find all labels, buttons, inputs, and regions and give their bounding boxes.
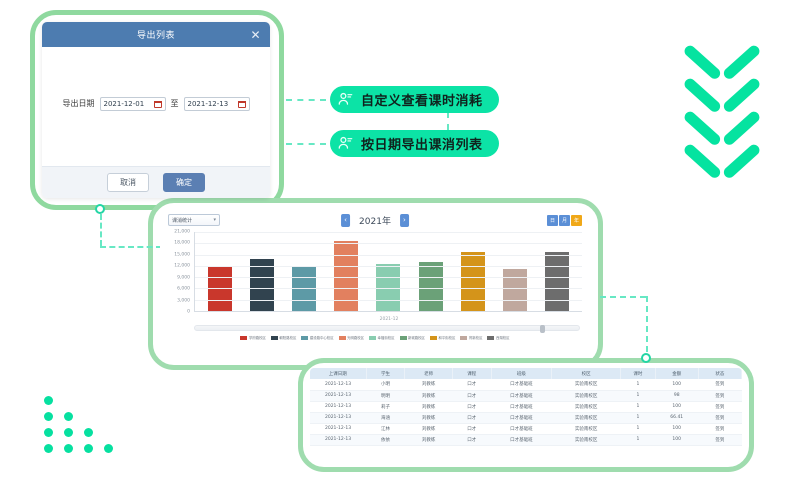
- table-cell: 刘教练: [405, 379, 452, 390]
- dialog-connector-horizontal: [100, 246, 162, 248]
- year-label: 2021年: [359, 214, 391, 227]
- confirm-button[interactable]: 确定: [163, 173, 205, 192]
- legend-label: 和平街校区: [438, 335, 455, 340]
- bar[interactable]: [545, 252, 569, 311]
- table-row[interactable]: 2021-12-13江林刘教练口才口才基础班实验南校区1100签到: [310, 423, 742, 434]
- legend-item[interactable]: 西湖校区: [487, 335, 509, 340]
- stat-type-select[interactable]: 课消统计 ▾: [168, 214, 220, 226]
- chart-table-connector-h: [600, 296, 646, 298]
- bar[interactable]: [503, 269, 527, 311]
- table-cell: 刘教练: [405, 390, 452, 401]
- table-cell: 签到: [698, 401, 741, 412]
- table-cell: 实验南校区: [552, 412, 621, 423]
- calendar-icon[interactable]: [238, 100, 246, 108]
- legend-swatch: [271, 336, 278, 340]
- legend-label: 西湖校区: [496, 335, 510, 340]
- prev-year-button[interactable]: ‹: [341, 214, 350, 227]
- table-cell: 实验南校区: [552, 423, 621, 434]
- table-cell: 100: [655, 401, 698, 412]
- table-header-row: 上课日期学生老师课程班级校区课时金额状态: [310, 368, 742, 379]
- table-cell: 口才基础班: [491, 379, 551, 390]
- bar[interactable]: [461, 252, 485, 311]
- chart-scrollbar[interactable]: [194, 325, 580, 331]
- course-consumption-table-panel: 上课日期学生老师课程班级校区课时金额状态 2021-12-13小明刘教练口才口才…: [310, 368, 742, 460]
- next-year-button[interactable]: ›: [400, 214, 409, 227]
- legend-swatch: [460, 336, 467, 340]
- table-cell: 签到: [698, 434, 741, 445]
- callout-connector-2: [286, 143, 326, 145]
- table-cell: 1: [621, 401, 656, 412]
- calendar-icon[interactable]: [154, 100, 162, 108]
- dialog-connector-vertical: [100, 214, 102, 246]
- table-cell: 实验南校区: [552, 434, 621, 445]
- grid-line: [195, 300, 582, 301]
- table-body: 2021-12-13小明刘教练口才口才基础班实验南校区1100签到2021-12…: [310, 379, 742, 445]
- table-cell: 口才基础班: [491, 412, 551, 423]
- year-navigator: ‹ 2021年 ›: [341, 214, 409, 227]
- table-cell: 实验南校区: [552, 390, 621, 401]
- table-cell: 海涵: [366, 412, 405, 423]
- legend-label: 建设路中心校区: [310, 335, 334, 340]
- table-cell: 100: [655, 434, 698, 445]
- date-range-separator: 至: [171, 98, 179, 109]
- callout-connector-1: [286, 99, 326, 101]
- table-cell: 口才: [452, 401, 491, 412]
- close-icon[interactable]: ✕: [250, 29, 261, 41]
- table-column-header[interactable]: 课时: [621, 368, 656, 379]
- legend-item[interactable]: 朝阳路校区: [271, 335, 296, 340]
- table-cell: 刘教练: [405, 412, 452, 423]
- table-cell: 口才: [452, 434, 491, 445]
- chart-legend: 学府路校区朝阳路校区建设路中心校区光明路校区幸福街校区新城路校区和平街校区育新校…: [160, 335, 590, 340]
- export-date-label: 导出日期: [63, 98, 95, 109]
- table-cell: 66.41: [655, 412, 698, 423]
- table-cell: 2021-12-13: [310, 379, 366, 390]
- table-cell: 签到: [698, 412, 741, 423]
- callout-pill-2: 按日期导出课消列表: [330, 130, 499, 157]
- legend-swatch: [339, 336, 346, 340]
- table-cell: 口才基础班: [491, 434, 551, 445]
- plot-grid: [194, 232, 582, 312]
- table-cell: 口才: [452, 412, 491, 423]
- dialog-body: 导出日期 2021-12-01 至 2021-12-13: [42, 47, 270, 166]
- legend-swatch: [487, 336, 494, 340]
- legend-label: 朝阳路校区: [279, 335, 296, 340]
- table-cell: 1: [621, 412, 656, 423]
- table-cell: 口才: [452, 379, 491, 390]
- table-cell: 明明: [366, 390, 405, 401]
- chevron-down-icon: [686, 141, 758, 183]
- user-check-icon: [337, 135, 354, 152]
- callout-pill-1: 自定义查看课时消耗: [330, 86, 499, 113]
- table-cell: 100: [655, 423, 698, 434]
- legend-swatch: [369, 336, 376, 340]
- y-tick-label: 18,000: [174, 241, 190, 246]
- legend-label: 育新校区: [469, 335, 483, 340]
- table-column-header[interactable]: 状态: [698, 368, 741, 379]
- y-tick-label: 9,000: [177, 275, 190, 280]
- legend-swatch: [301, 336, 308, 340]
- connector-endpoint-dialog: [95, 204, 105, 214]
- table-column-header[interactable]: 上课日期: [310, 368, 366, 379]
- legend-item[interactable]: 幸福街校区: [369, 335, 394, 340]
- table-cell: 98: [655, 390, 698, 401]
- legend-item[interactable]: 新城路校区: [400, 335, 425, 340]
- grid-line: [195, 255, 582, 256]
- dialog-footer: 取消 确定: [42, 166, 270, 198]
- table-cell: 2021-12-13: [310, 423, 366, 434]
- table-cell: 实验南校区: [552, 401, 621, 412]
- table-cell: 口才基础班: [491, 390, 551, 401]
- range-button-year[interactable]: 年: [571, 215, 582, 226]
- table-row[interactable]: 2021-12-13海涵刘教练口才口才基础班实验南校区166.41签到: [310, 412, 742, 423]
- date-to-value: 2021-12-13: [188, 100, 229, 108]
- connector-endpoint-table: [641, 353, 651, 363]
- y-tick-label: 0: [187, 310, 190, 315]
- legend-swatch: [400, 336, 407, 340]
- y-axis: 03,0006,0009,00012,00015,00018,00021,000: [166, 232, 192, 312]
- cancel-button[interactable]: 取消: [107, 173, 149, 192]
- table-cell: 莉子: [366, 401, 405, 412]
- dot-grid-decoration: [44, 396, 130, 454]
- course-consumption-table: 上课日期学生老师课程班级校区课时金额状态 2021-12-13小明刘教练口才口才…: [310, 368, 742, 446]
- table-cell: 口才基础班: [491, 401, 551, 412]
- y-tick-label: 15,000: [174, 252, 190, 257]
- grid-line: [195, 288, 582, 289]
- legend-swatch: [240, 336, 247, 340]
- legend-item[interactable]: 建设路中心校区: [301, 335, 333, 340]
- callout-label: 自定义查看课时消耗: [361, 90, 483, 109]
- chart-toolbar: 课消统计 ▾ ‹ 2021年 › 日 月 年: [160, 210, 590, 230]
- range-button-day[interactable]: 日: [547, 215, 558, 226]
- legend-item[interactable]: 光明路校区: [339, 335, 364, 340]
- legend-item[interactable]: 学府路校区: [240, 335, 265, 340]
- legend-label: 幸福街校区: [378, 335, 395, 340]
- table-cell: 口才: [452, 390, 491, 401]
- bar[interactable]: [419, 262, 443, 311]
- y-tick-label: 21,000: [174, 230, 190, 235]
- table-row[interactable]: 2021-12-13明明刘教练口才口才基础班实验南校区198签到: [310, 390, 742, 401]
- dialog-titlebar: 导出列表 ✕: [42, 22, 270, 47]
- chevron-decoration-group: [686, 42, 762, 178]
- range-button-month[interactable]: 月: [559, 215, 570, 226]
- export-dialog: 导出列表 ✕ 导出日期 2021-12-01 至 2021-12-13 取消 确…: [42, 22, 270, 198]
- table-cell: 依依: [366, 434, 405, 445]
- legend-label: 光明路校区: [347, 335, 364, 340]
- table-cell: 1: [621, 379, 656, 390]
- grid-line: [195, 266, 582, 267]
- y-tick-label: 6,000: [177, 287, 190, 292]
- table-column-header[interactable]: 学生: [366, 368, 405, 379]
- table-cell: 刘教练: [405, 434, 452, 445]
- table-cell: 签到: [698, 390, 741, 401]
- y-tick-label: 12,000: [174, 264, 190, 269]
- table-cell: 2021-12-13: [310, 390, 366, 401]
- date-to-input[interactable]: 2021-12-13: [184, 97, 250, 111]
- table-cell: 1: [621, 434, 656, 445]
- y-tick-label: 3,000: [177, 298, 190, 303]
- legend-label: 学府路校区: [249, 335, 266, 340]
- table-cell: 刘教练: [405, 423, 452, 434]
- table-cell: 签到: [698, 379, 741, 390]
- grid-line: [195, 243, 582, 244]
- table-cell: 100: [655, 379, 698, 390]
- screenshot-root: 导出列表 ✕ 导出日期 2021-12-01 至 2021-12-13 取消 确…: [0, 0, 800, 500]
- scrollbar-thumb[interactable]: [540, 325, 545, 333]
- table-column-header[interactable]: 班级: [491, 368, 551, 379]
- legend-swatch: [430, 336, 437, 340]
- table-row[interactable]: 2021-12-13依依刘教练口才口才基础班实验南校区1100签到: [310, 434, 742, 445]
- table-cell: 江林: [366, 423, 405, 434]
- table-cell: 口才基础班: [491, 423, 551, 434]
- export-date-field-row: 导出日期 2021-12-01 至 2021-12-13: [63, 97, 250, 111]
- legend-label: 新城路校区: [408, 335, 425, 340]
- dialog-title: 导出列表: [137, 28, 175, 41]
- stat-type-value: 课消统计: [172, 217, 192, 224]
- bar-chart: 03,0006,0009,00012,00015,00018,00021,000…: [166, 232, 584, 322]
- table-cell: 刘教练: [405, 401, 452, 412]
- user-check-icon: [337, 91, 354, 108]
- grid-line: [195, 277, 582, 278]
- table-row[interactable]: 2021-12-13莉子刘教练口才口才基础班实验南校区1100签到: [310, 401, 742, 412]
- chart-panel: 课消统计 ▾ ‹ 2021年 › 日 月 年 03,0006,0009,0001…: [160, 210, 590, 358]
- callout-connector-link: [447, 112, 449, 130]
- table-cell: 签到: [698, 423, 741, 434]
- date-from-value: 2021-12-01: [104, 100, 145, 108]
- table-cell: 2021-12-13: [310, 434, 366, 445]
- table-cell: 1: [621, 423, 656, 434]
- table-cell: 口才: [452, 423, 491, 434]
- table-column-header[interactable]: 校区: [552, 368, 621, 379]
- date-from-input[interactable]: 2021-12-01: [100, 97, 166, 111]
- range-toggle-group: 日 月 年: [547, 215, 582, 226]
- table-row[interactable]: 2021-12-13小明刘教练口才口才基础班实验南校区1100签到: [310, 379, 742, 390]
- table-column-header[interactable]: 金额: [655, 368, 698, 379]
- x-axis-label: 2021-12: [194, 317, 584, 322]
- chevron-down-icon: ▾: [213, 217, 216, 223]
- table-cell: 2021-12-13: [310, 401, 366, 412]
- callout-label: 按日期导出课消列表: [361, 134, 483, 153]
- table-cell: 2021-12-13: [310, 412, 366, 423]
- table-column-header[interactable]: 老师: [405, 368, 452, 379]
- legend-item[interactable]: 和平街校区: [430, 335, 455, 340]
- grid-line: [195, 232, 582, 233]
- table-column-header[interactable]: 课程: [452, 368, 491, 379]
- table-cell: 实验南校区: [552, 379, 621, 390]
- table-cell: 1: [621, 390, 656, 401]
- legend-item[interactable]: 育新校区: [460, 335, 482, 340]
- table-cell: 小明: [366, 379, 405, 390]
